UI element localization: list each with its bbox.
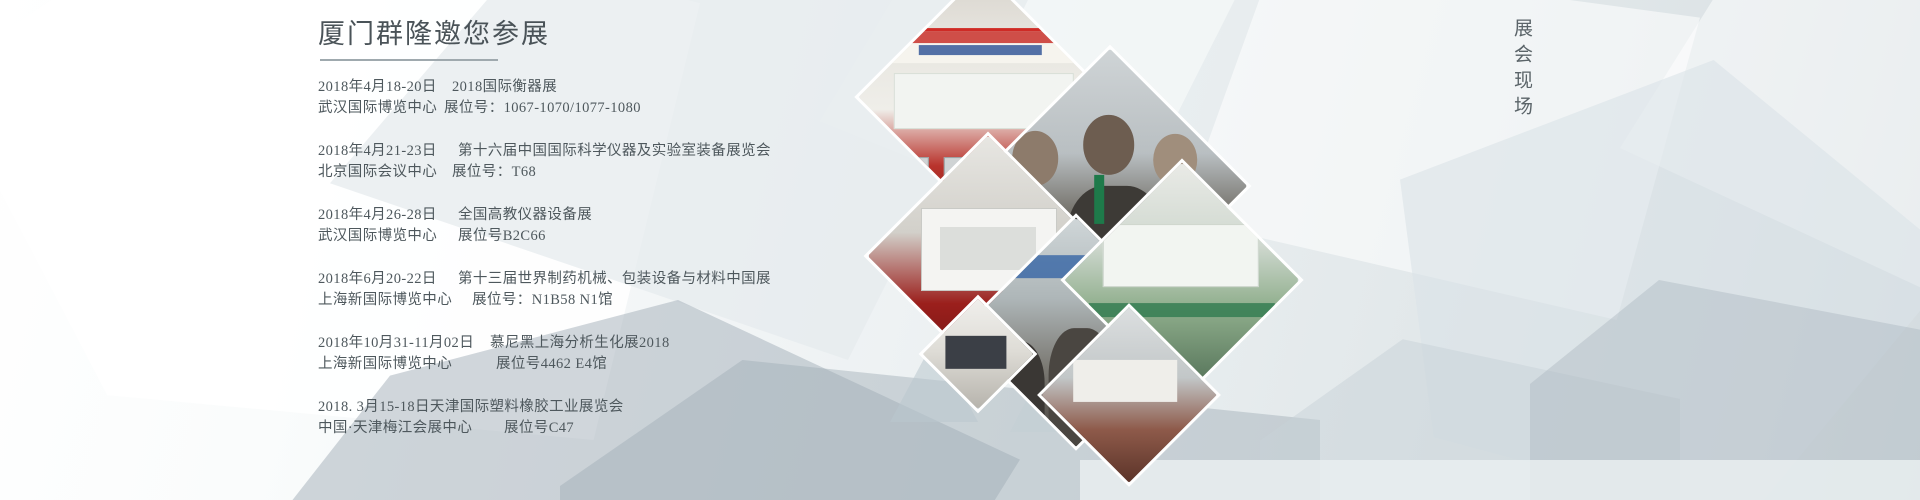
banner-stage: 厦门群隆邀您参展 2018年4月18-20日 2018国际衡器展 武汉国际博览中… bbox=[0, 0, 1920, 500]
event-name: 慕尼黑上海分析生化展2018 bbox=[476, 333, 670, 354]
event-booth: 展位号B2C66 bbox=[444, 226, 546, 247]
event-date: 2018年4月26-28日 bbox=[318, 205, 444, 226]
event-booth: 展位号4462 E4馆 bbox=[488, 354, 607, 375]
event-venue: 北京国际会议中心 bbox=[318, 162, 444, 183]
event-venue: 上海新国际博览中心 bbox=[318, 290, 464, 311]
event-date: 2018年10月31-11月02日 bbox=[318, 333, 476, 354]
event-name: 全国高教仪器设备展 bbox=[444, 205, 592, 226]
event-booth: 展位号：N1B58 N1馆 bbox=[464, 290, 613, 311]
event-venue: 武汉国际博览中心 bbox=[318, 226, 444, 247]
event-name: 2018国际衡器展 bbox=[444, 77, 557, 98]
event-booth: 展位号C47 bbox=[490, 418, 574, 439]
photo-collage bbox=[840, 0, 1260, 500]
vertical-caption: 展会现场 bbox=[1508, 18, 1535, 122]
event-booth: 展位号：T68 bbox=[444, 162, 536, 183]
event-venue: 上海新国际博览中心 bbox=[318, 354, 488, 375]
event-venue: 中国·天津梅江会展中心 bbox=[318, 418, 490, 439]
event-booth: 展位号：1067-1070/1077-1080 bbox=[444, 98, 641, 119]
event-venue: 武汉国际博览中心 bbox=[318, 98, 444, 119]
event-date: 2018年4月18-20日 bbox=[318, 77, 444, 98]
event-date: 2018年4月21-23日 bbox=[318, 141, 444, 162]
event-name: 第十六届中国国际科学仪器及实验室装备展览会 bbox=[444, 141, 771, 162]
title-underline bbox=[320, 59, 498, 61]
event-name: 第十三届世界制药机械、包装设备与材料中国展 bbox=[444, 269, 771, 290]
event-date: 2018年6月20-22日 bbox=[318, 269, 444, 290]
